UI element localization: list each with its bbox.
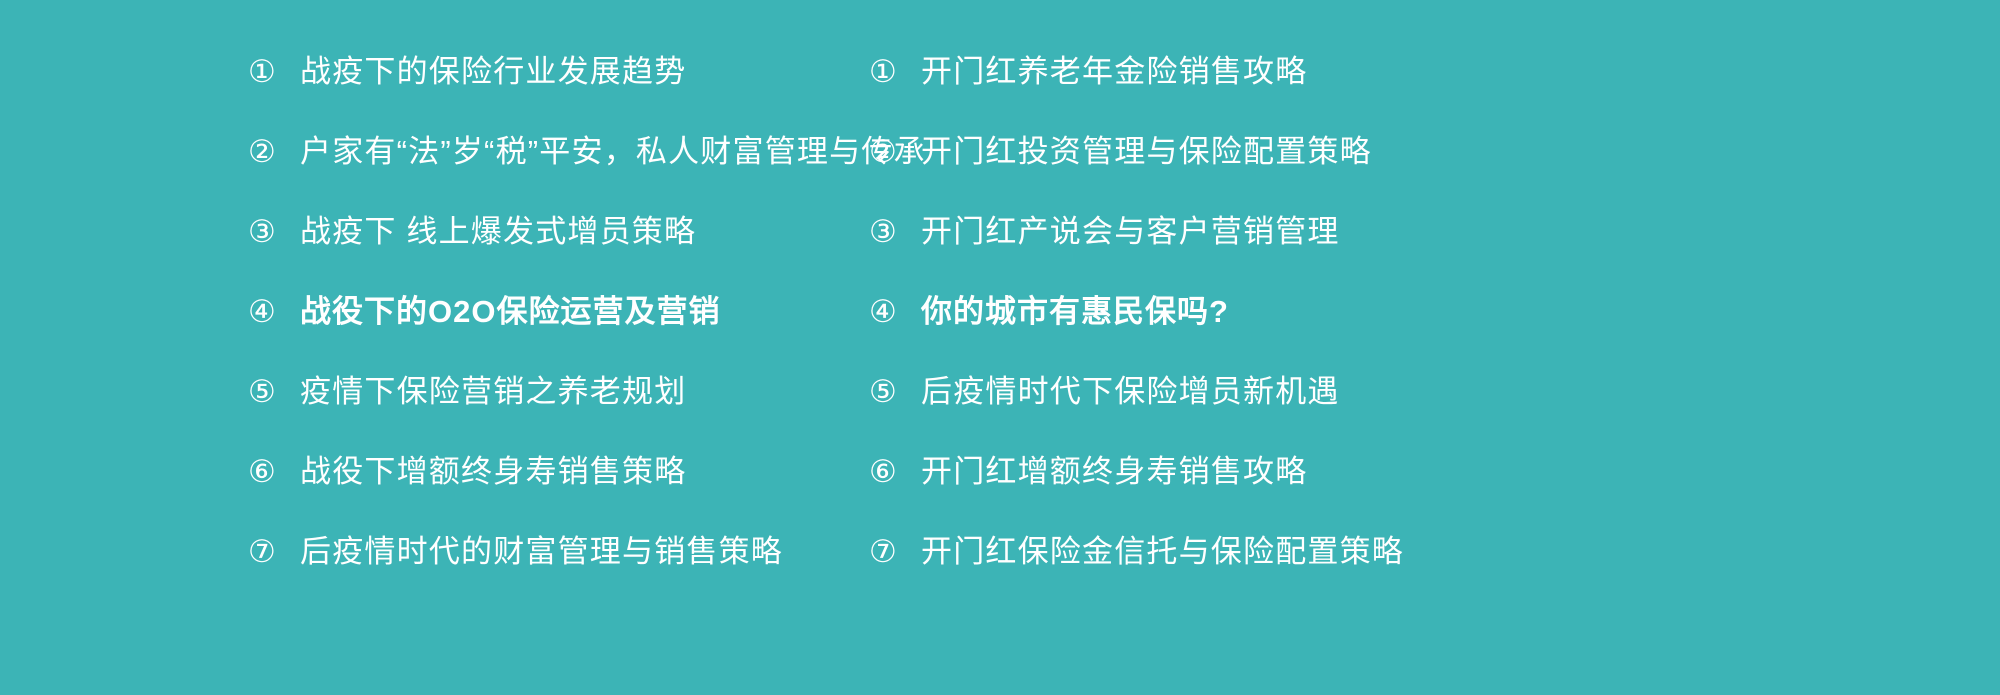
topic-label: 疫情下保险营销之养老规划 <box>300 372 686 412</box>
topic-columns: ①战疫下的保险行业发展趋势②户家有“法”岁“税”平安，私人财富管理与传承③战疫下… <box>0 52 2000 612</box>
topic-item[interactable]: ②开门红投资管理与保险配置策略 <box>869 132 2000 212</box>
circled-number-icon: ③ <box>869 212 921 252</box>
circled-number-icon: ⑦ <box>869 532 921 572</box>
topic-item[interactable]: ②户家有“法”岁“税”平安，私人财富管理与传承 <box>248 132 790 212</box>
topic-label: 开门红增额终身寿销售攻略 <box>921 452 1307 492</box>
circled-number-icon: ④ <box>248 292 300 332</box>
topic-label: 开门红产说会与客户营销管理 <box>921 212 1340 252</box>
topic-item[interactable]: ①开门红养老年金险销售攻略 <box>869 52 2000 132</box>
circled-number-icon: ⑦ <box>248 532 300 572</box>
circled-number-icon: ② <box>248 132 300 172</box>
topic-item[interactable]: ⑦后疫情时代的财富管理与销售策略 <box>248 532 790 612</box>
circled-number-icon: ③ <box>248 212 300 252</box>
topic-label: 你的城市有惠民保吗? <box>921 292 1229 332</box>
circled-number-icon: ① <box>248 52 300 92</box>
topic-label: 战疫下 线上爆发式增员策略 <box>300 212 696 252</box>
left-column: ①战疫下的保险行业发展趋势②户家有“法”岁“税”平安，私人财富管理与传承③战疫下… <box>0 52 790 612</box>
topic-item[interactable]: ⑤后疫情时代下保险增员新机遇 <box>869 372 2000 452</box>
topic-item[interactable]: ③战疫下 线上爆发式增员策略 <box>248 212 790 292</box>
topic-item[interactable]: ①战疫下的保险行业发展趋势 <box>248 52 790 132</box>
topic-label: 战役下增额终身寿销售策略 <box>300 452 686 492</box>
topic-item[interactable]: ⑤疫情下保险营销之养老规划 <box>248 372 790 452</box>
circled-number-icon: ④ <box>869 292 921 332</box>
topic-label: 战疫下的保险行业发展趋势 <box>300 52 686 92</box>
topic-item[interactable]: ⑥开门红增额终身寿销售攻略 <box>869 452 2000 532</box>
topic-label: 开门红保险金信托与保险配置策略 <box>921 532 1404 572</box>
circled-number-icon: ① <box>869 52 921 92</box>
topic-label: 开门红养老年金险销售攻略 <box>921 52 1307 92</box>
topic-list-slide: ①战疫下的保险行业发展趋势②户家有“法”岁“税”平安，私人财富管理与传承③战疫下… <box>0 0 2000 695</box>
circled-number-icon: ⑥ <box>869 452 921 492</box>
topic-item[interactable]: ④你的城市有惠民保吗? <box>869 292 2000 372</box>
topic-label: 开门红投资管理与保险配置策略 <box>921 132 1372 172</box>
topic-label: 后疫情时代的财富管理与销售策略 <box>300 532 783 572</box>
circled-number-icon: ② <box>869 132 921 172</box>
topic-item[interactable]: ⑥战役下增额终身寿销售策略 <box>248 452 790 532</box>
topic-item[interactable]: ③开门红产说会与客户营销管理 <box>869 212 2000 292</box>
right-column: ①开门红养老年金险销售攻略②开门红投资管理与保险配置策略③开门红产说会与客户营销… <box>790 52 2000 612</box>
topic-label: 战役下的O2O保险运营及营销 <box>300 292 720 332</box>
topic-item[interactable]: ④战役下的O2O保险运营及营销 <box>248 292 790 372</box>
topic-item[interactable]: ⑦开门红保险金信托与保险配置策略 <box>869 532 2000 612</box>
circled-number-icon: ⑥ <box>248 452 300 492</box>
topic-label: 后疫情时代下保险增员新机遇 <box>921 372 1340 412</box>
circled-number-icon: ⑤ <box>248 372 300 412</box>
circled-number-icon: ⑤ <box>869 372 921 412</box>
